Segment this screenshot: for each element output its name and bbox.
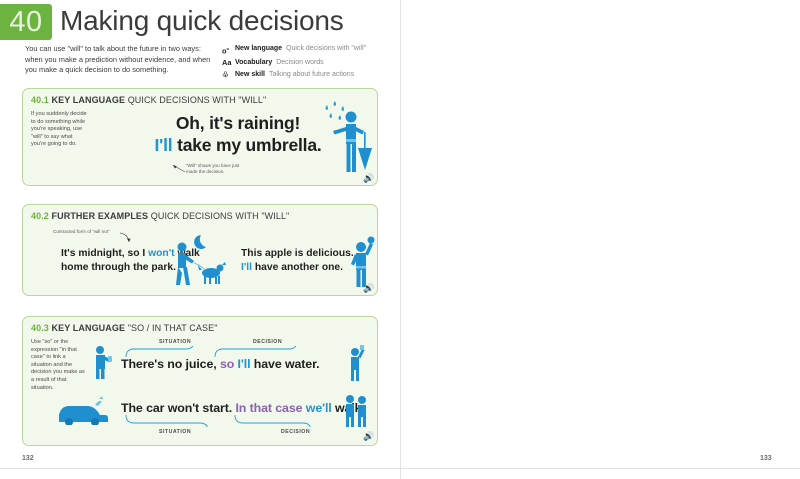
example-b-post: have another one.: [252, 262, 343, 273]
page-bottom-rule: [0, 468, 800, 469]
textbook-spread: 40 Making quick decisions You can use "w…: [0, 0, 800, 479]
panel-40-1-callout: "Will" shows you have just made the deci…: [186, 163, 252, 175]
new-language-icon: oo: [222, 44, 235, 55]
two-people-walking-illustration: [341, 393, 373, 427]
key-point-label: New skill: [235, 70, 265, 79]
panel-title-light: QUICK DECISIONS WITH "WILL": [128, 95, 267, 105]
example-b-line-1: This apple is delicious.: [241, 248, 354, 259]
callout-arrow-icon: [119, 231, 135, 247]
panel-40-1-title: 40.1 KEY LANGUAGE QUICK DECISIONS WITH "…: [31, 95, 266, 105]
connector-in-that-case: In that case: [235, 401, 302, 415]
panel-title-bold: FURTHER EXAMPLES: [52, 211, 149, 221]
page-number-right: 133: [760, 455, 772, 462]
example-line-2: I'll take my umbrella.: [143, 135, 333, 156]
page-title: Making quick decisions: [60, 5, 344, 37]
highlight-ill: I'll: [241, 262, 252, 273]
panel-number: 40.1: [31, 95, 49, 105]
key-point-new-skill: ♧ New skill Talking about future actions: [222, 70, 397, 79]
unit-intro-text: You can use "will" to talk about the fut…: [25, 44, 215, 76]
key-point-vocabulary: Aa Vocabulary Decision words: [222, 58, 397, 67]
new-skill-icon: ♧: [222, 70, 235, 79]
key-point-desc: Quick decisions with "will": [286, 44, 366, 53]
audio-speaker-icon[interactable]: 🔊: [363, 173, 374, 184]
panel-number: 40.3: [31, 323, 49, 333]
key-point-desc: Decision words: [276, 58, 323, 67]
example-sentence-40-1: Oh, it's raining! I'll take my umbrella.: [143, 113, 333, 156]
label-decision-bottom: DECISION: [281, 429, 310, 435]
man-with-umbrella-illustration: [319, 99, 377, 181]
key-point-label: New language: [235, 44, 282, 53]
highlight-ill: I'll: [238, 357, 251, 371]
panel-40-1-side-note: If you suddenly decide to do something w…: [31, 111, 89, 149]
broken-car-illustration: [55, 395, 111, 425]
example-a-pre: It's midnight, so I: [61, 248, 148, 259]
example-sentence-40-3-b: The car won't start. In that case we'll …: [121, 401, 365, 415]
panel-number: 40.2: [31, 211, 49, 221]
key-point-new-language: oo New language Quick decisions with "wi…: [222, 44, 397, 55]
panel-title-bold: KEY LANGUAGE: [52, 323, 126, 333]
highlight-will: I'll: [154, 135, 172, 155]
panel-40-3-side-note: Use "so" or the expression "in that case…: [31, 339, 85, 392]
man-drinking-water-illustration: [343, 343, 369, 381]
brace-bottom-icons: [123, 415, 335, 427]
panel-40-1: 40.1 KEY LANGUAGE QUICK DECISIONS WITH "…: [22, 88, 378, 186]
man-walking-dog-illustration: [171, 233, 229, 289]
panel-40-3-title: 40.3 KEY LANGUAGE "SO / IN THAT CASE": [31, 323, 218, 333]
situation-text: The car won't start.: [121, 401, 232, 415]
label-decision-top: DECISION: [253, 339, 282, 345]
panel-title-light: QUICK DECISIONS WITH "WILL": [151, 211, 290, 221]
man-eating-apple-illustration: [345, 233, 379, 287]
callout-arrow-icon: [165, 161, 187, 173]
connector-so: so: [220, 357, 234, 371]
left-page: 40 Making quick decisions You can use "w…: [0, 0, 400, 479]
audio-speaker-icon[interactable]: 🔊: [363, 283, 374, 294]
highlight-well: we'll: [306, 401, 332, 415]
unit-number: 40: [0, 4, 52, 40]
label-situation-bottom: SITUATION: [159, 429, 191, 435]
panel-40-2: 40.2 FURTHER EXAMPLES QUICK DECISIONS WI…: [22, 204, 378, 296]
panel-title-light: "SO / IN THAT CASE": [128, 323, 218, 333]
example-line-2-rest: take my umbrella.: [177, 135, 321, 155]
vocabulary-icon: Aa: [222, 58, 235, 67]
panel-40-2-callout: Contracted form of "will not": [53, 229, 127, 235]
page-number-left: 132: [22, 455, 34, 462]
label-situation-top: SITUATION: [159, 339, 191, 345]
situation-text: There's no juice,: [121, 357, 217, 371]
panel-title-bold: KEY LANGUAGE: [52, 95, 126, 105]
example-sentence-40-3-a: There's no juice, so I'll have water.: [121, 357, 319, 371]
panel-40-3: 40.3 KEY LANGUAGE "SO / IN THAT CASE" Us…: [22, 316, 378, 446]
key-point-label: Vocabulary: [235, 58, 272, 67]
key-points-list: oo New language Quick decisions with "wi…: [222, 44, 397, 81]
audio-speaker-icon[interactable]: 🔊: [363, 431, 374, 442]
panel-40-2-title: 40.2 FURTHER EXAMPLES QUICK DECISIONS WI…: [31, 211, 289, 221]
key-point-desc: Talking about future actions: [269, 70, 354, 79]
example-line-1: Oh, it's raining!: [143, 113, 333, 134]
woman-pouring-drink-illustration: [89, 343, 115, 379]
right-page: 40.4 MATCH THE BEGINNINGS OF THE SENTENC…: [400, 0, 800, 479]
decision-text: have water.: [254, 357, 320, 371]
